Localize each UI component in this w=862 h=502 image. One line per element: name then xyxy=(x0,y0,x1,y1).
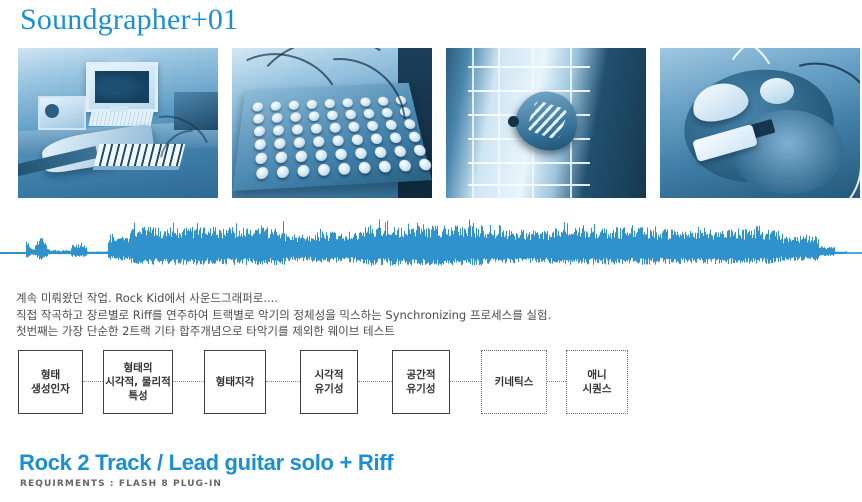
flow-box-label: 시각적, 물리적 xyxy=(105,375,171,389)
flow-box-label: 형태 xyxy=(41,368,60,382)
flow-connector-form-perception-to-visual-valence xyxy=(266,381,300,382)
flow-box-label: 형태의 xyxy=(124,361,153,375)
photo-mouse-cables xyxy=(660,48,860,198)
photo-audio-mixer xyxy=(232,48,432,198)
flow-box-form-generator[interactable]: 형태생성인자 xyxy=(18,350,83,414)
flow-box-form-perception[interactable]: 형태지각 xyxy=(204,350,266,414)
footer-title: Rock 2 Track / Lead guitar solo + Riff xyxy=(19,450,393,476)
flow-box-spatial-valence[interactable]: 공간적유기성 xyxy=(392,350,450,414)
description-line-3: 첫번째는 가장 단순한 2트랙 기타 합주개념으로 타악기를 제외한 웨이브 테… xyxy=(16,323,846,340)
flow-box-label: 공간적 xyxy=(407,368,436,382)
flow-box-label: 시각적 xyxy=(315,368,344,382)
flow-box-label: 생성인자 xyxy=(31,382,70,396)
flow-box-kinetics[interactable]: 키네틱스 xyxy=(481,350,547,414)
flow-box-label: 유기성 xyxy=(315,382,344,396)
flow-box-ani-sequence[interactable]: 애니시퀀스 xyxy=(566,350,628,414)
description-line-2: 직접 작곡하고 장르별로 Riff를 연주하여 트랙별로 악기의 정체성을 믹스… xyxy=(16,307,846,324)
flow-box-label: 형태지각 xyxy=(216,375,255,389)
flow-box-visual-physical-traits[interactable]: 형태의시각적, 물리적특성 xyxy=(103,350,173,414)
audio-waveform xyxy=(0,215,862,291)
flow-connector-form-generator-to-visual-physical-traits xyxy=(83,381,103,382)
process-flow-diagram: 형태생성인자형태의시각적, 물리적특성형태지각시각적유기성공간적유기성키네틱스애… xyxy=(0,350,862,418)
flow-box-label: 유기성 xyxy=(407,382,436,396)
flow-connector-kinetics-to-ani-sequence xyxy=(547,381,566,382)
flow-connector-visual-valence-to-spatial-valence xyxy=(358,381,392,382)
description-line-1: 계속 미뤄왔던 작업. Rock Kid에서 사운드그래퍼로.... xyxy=(16,290,846,307)
flow-box-label: 키네틱스 xyxy=(495,375,534,389)
photo-desk-computer-guitar xyxy=(18,48,218,198)
photo-guitar-pick xyxy=(446,48,646,198)
flow-box-label: 특성 xyxy=(128,389,147,403)
photo-strip xyxy=(18,48,846,198)
flow-box-label: 시퀀스 xyxy=(583,382,612,396)
flow-box-visual-valence[interactable]: 시각적유기성 xyxy=(300,350,358,414)
flow-connector-spatial-valence-to-kinetics xyxy=(450,381,481,382)
flow-box-label: 애니 xyxy=(587,368,606,382)
description-paragraph: 계속 미뤄왔던 작업. Rock Kid에서 사운드그래퍼로.... 직접 작곡… xyxy=(16,290,846,340)
flow-connector-visual-physical-traits-to-form-perception xyxy=(173,381,204,382)
footer-requirements: REQUIRMENTS : FLASH 8 PLUG-IN xyxy=(20,479,222,489)
page-title: Soundgrapher+01 xyxy=(20,0,238,40)
